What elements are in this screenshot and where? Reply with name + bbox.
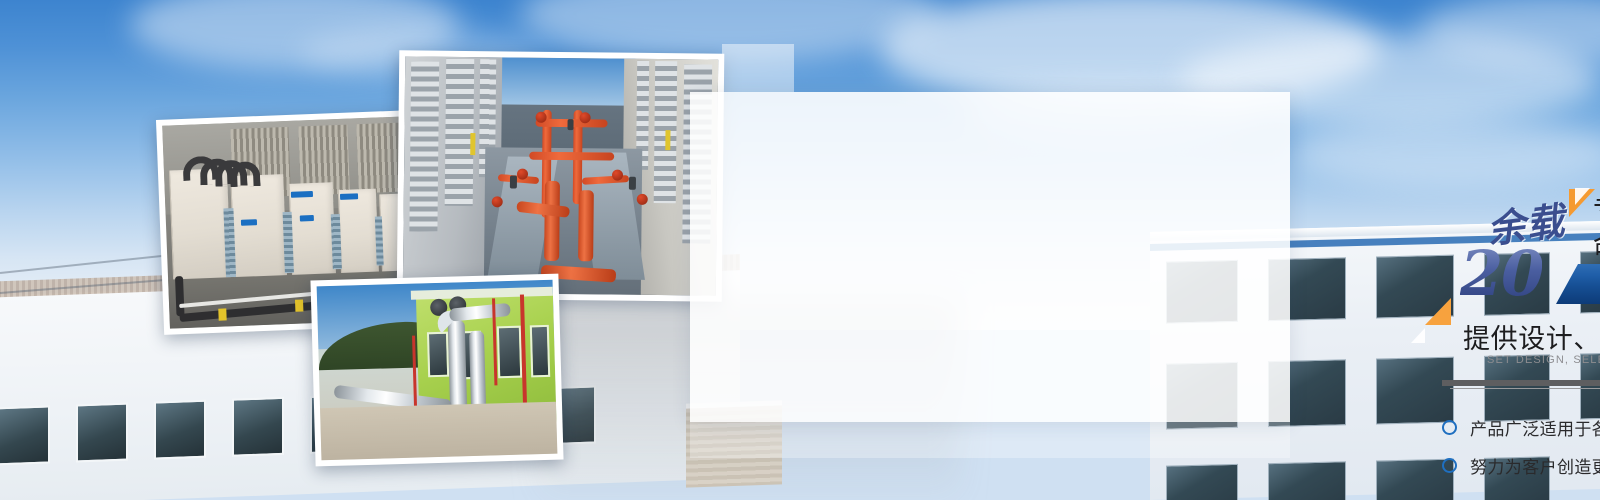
cloud	[1290, 120, 1600, 186]
bullet-list: 产品广泛适用于各种类型的办公楼、酒店、厂矿、医院等等 努力为客户创造更高的价值	[1442, 408, 1600, 484]
hero-banner: 余载 20 专注于各类建筑中央空调全寿命周期整体解决方案 通风排气净化工程 提供…	[0, 0, 1600, 500]
english-tagline: SET DESIGN, SELECTION, INSTALLATION, MAI…	[1487, 354, 1600, 366]
headline: 专注于各类建筑中央空调全寿命周期整体解决方案	[1593, 193, 1600, 265]
content-panel: 余载 20 专注于各类建筑中央空调全寿命周期整体解决方案 通风排气净化工程 提供…	[690, 92, 1290, 422]
arrow-bottom-left-icon	[1425, 298, 1451, 325]
bullet-text: 产品广泛适用于各种类型的办公楼、酒店、厂矿、医院等等	[1470, 415, 1600, 440]
photo-card-insulated-ducts	[310, 274, 563, 467]
list-item: 努力为客户创造更高的价值	[1442, 446, 1600, 484]
bullet-ring-icon	[1442, 420, 1457, 435]
bullet-ring-icon	[1442, 458, 1457, 473]
photo-card-chiller-pipework	[397, 50, 725, 301]
panel-lower-fade	[690, 422, 1290, 458]
ribbon-label: 通风排气净化工程	[1584, 264, 1600, 304]
arrow-top-right-icon	[1569, 189, 1595, 217]
anniversary-number: 20	[1460, 240, 1542, 308]
sub-headline: 提供设计、选型、安装、维修一站式服务	[1463, 317, 1600, 356]
list-item: 产品广泛适用于各种类型的办公楼、酒店、厂矿、医院等等	[1442, 408, 1600, 446]
divider	[1442, 380, 1600, 389]
decorative-square	[722, 44, 794, 92]
bullet-text: 努力为客户创造更高的价值	[1470, 453, 1600, 478]
service-ribbon: 通风排气净化工程	[1556, 264, 1600, 304]
